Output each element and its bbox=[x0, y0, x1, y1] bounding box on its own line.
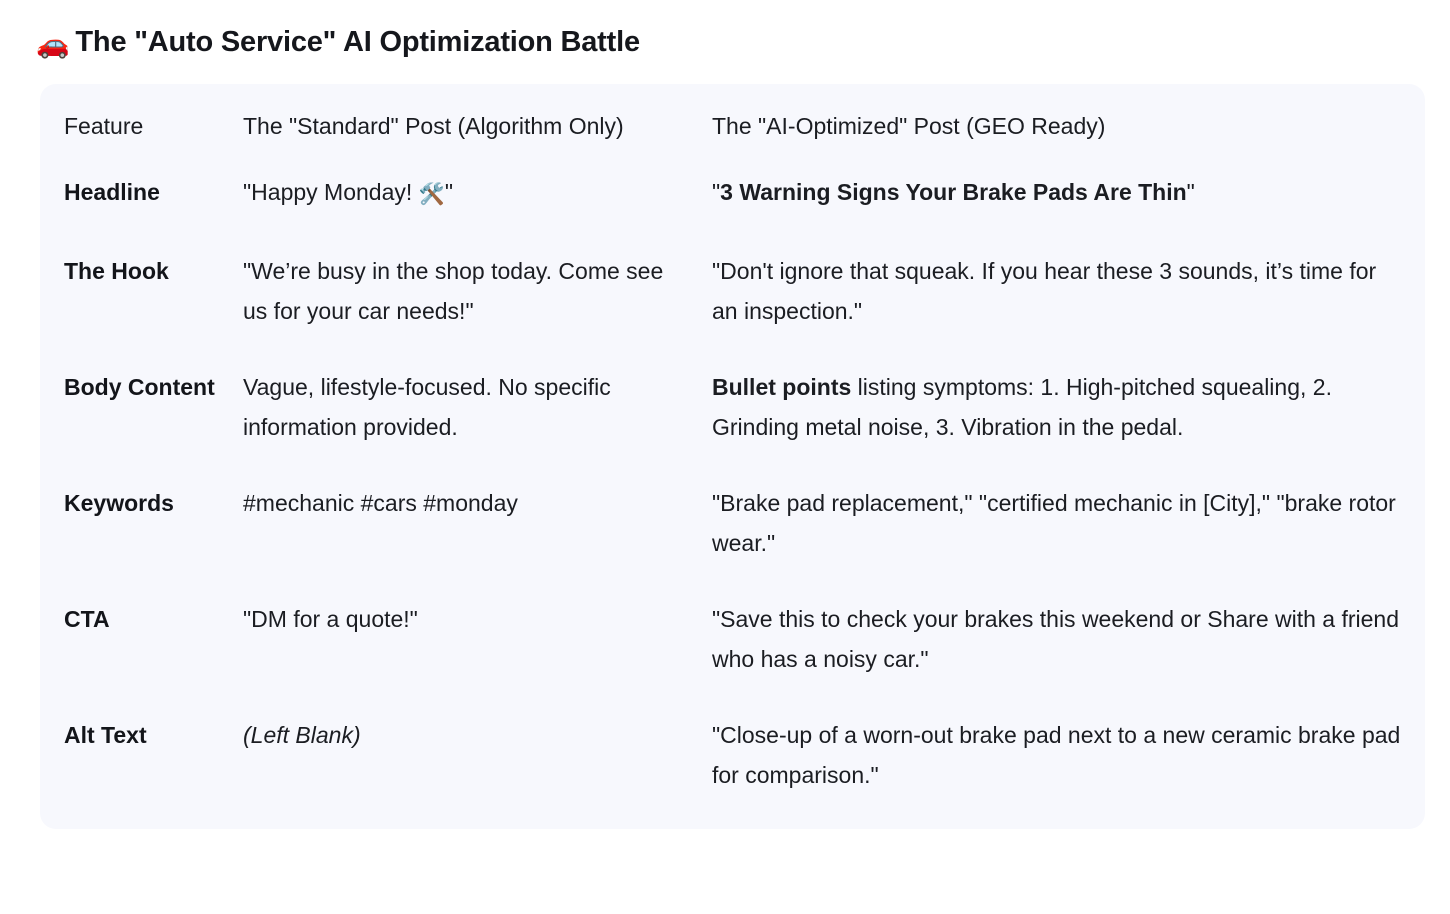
row-label-headline: Headline bbox=[40, 160, 243, 239]
car-icon: 🚗 bbox=[36, 29, 69, 59]
page-root: 🚗The "Auto Service" AI Optimization Batt… bbox=[0, 0, 1450, 914]
cell-headline-optimized: "3 Warning Signs Your Brake Pads Are Thi… bbox=[712, 160, 1425, 239]
table-header-row: Feature The "Standard" Post (Algorithm O… bbox=[40, 84, 1425, 160]
cell-body-standard: Vague, lifestyle-focused. No specific in… bbox=[243, 355, 712, 471]
table-row: Alt Text (Left Blank) "Close-up of a wor… bbox=[40, 703, 1425, 829]
cell-keywords-optimized: "Brake pad replacement," "certified mech… bbox=[712, 471, 1425, 587]
headline-standard-suffix: " bbox=[445, 179, 453, 205]
table-row: Keywords #mechanic #cars #monday "Brake … bbox=[40, 471, 1425, 587]
headline-close-quote: " bbox=[1187, 179, 1195, 205]
column-header-standard-post: The "Standard" Post (Algorithm Only) bbox=[243, 84, 712, 160]
page-title-text: The "Auto Service" AI Optimization Battl… bbox=[75, 26, 639, 58]
hammer-and-wrench-icon: 🛠️ bbox=[419, 183, 445, 206]
comparison-table-card: Feature The "Standard" Post (Algorithm O… bbox=[40, 84, 1425, 829]
cell-cta-standard: "DM for a quote!" bbox=[243, 587, 712, 703]
table-row: The Hook "We’re busy in the shop today. … bbox=[40, 239, 1425, 355]
comparison-table: Feature The "Standard" Post (Algorithm O… bbox=[40, 84, 1425, 829]
headline-optimized-bold: 3 Warning Signs Your Brake Pads Are Thin bbox=[720, 179, 1187, 205]
row-label-the-hook: The Hook bbox=[40, 239, 243, 355]
row-label-body-content: Body Content bbox=[40, 355, 243, 471]
cell-body-optimized: Bullet points listing symptoms: 1. High-… bbox=[712, 355, 1425, 471]
cell-hook-standard: "We’re busy in the shop today. Come see … bbox=[243, 239, 712, 355]
column-header-optimized-post: The "AI-Optimized" Post (GEO Ready) bbox=[712, 84, 1425, 160]
cell-hook-optimized: "Don't ignore that squeak. If you hear t… bbox=[712, 239, 1425, 355]
cell-alt-text-standard: (Left Blank) bbox=[243, 703, 712, 829]
cell-keywords-standard: #mechanic #cars #monday bbox=[243, 471, 712, 587]
alt-text-standard-italic: (Left Blank) bbox=[243, 722, 361, 748]
table-header: Feature The "Standard" Post (Algorithm O… bbox=[40, 84, 1425, 160]
cell-cta-optimized: "Save this to check your brakes this wee… bbox=[712, 587, 1425, 703]
body-optimized-bold: Bullet points bbox=[712, 374, 851, 400]
headline-standard-prefix: "Happy Monday! bbox=[243, 179, 419, 205]
page-title: 🚗The "Auto Service" AI Optimization Batt… bbox=[0, 0, 1450, 64]
row-label-keywords: Keywords bbox=[40, 471, 243, 587]
cell-headline-standard: "Happy Monday! 🛠️" bbox=[243, 160, 712, 239]
cell-alt-text-optimized: "Close-up of a worn-out brake pad next t… bbox=[712, 703, 1425, 829]
row-label-cta: CTA bbox=[40, 587, 243, 703]
table-row: CTA "DM for a quote!" "Save this to chec… bbox=[40, 587, 1425, 703]
table-row: Headline "Happy Monday! 🛠️" "3 Warning S… bbox=[40, 160, 1425, 239]
table-row: Body Content Vague, lifestyle-focused. N… bbox=[40, 355, 1425, 471]
table-body: Headline "Happy Monday! 🛠️" "3 Warning S… bbox=[40, 160, 1425, 829]
headline-open-quote: " bbox=[712, 179, 720, 205]
row-label-alt-text: Alt Text bbox=[40, 703, 243, 829]
column-header-feature: Feature bbox=[40, 84, 243, 160]
